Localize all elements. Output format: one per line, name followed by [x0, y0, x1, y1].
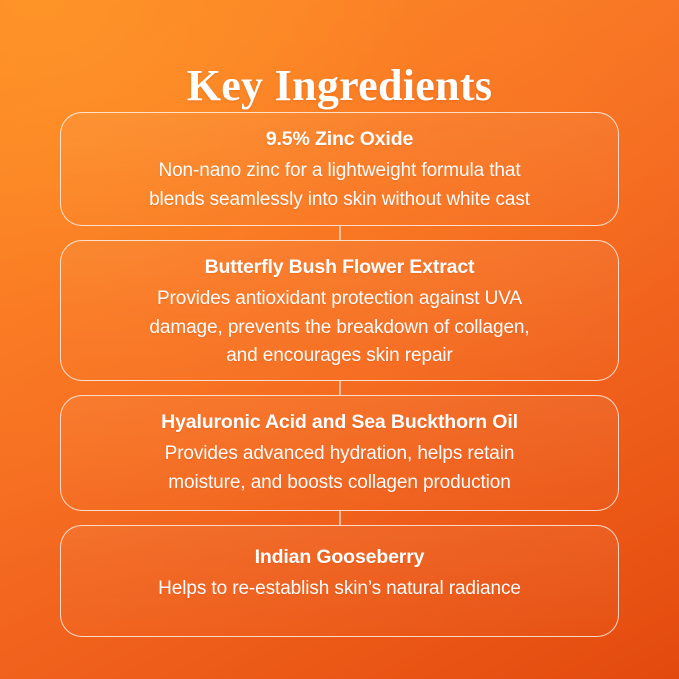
ingredient-card-list: 9.5% Zinc Oxide Non-nano zinc for a ligh… — [60, 112, 619, 637]
ingredient-card-heading: 9.5% Zinc Oxide — [87, 126, 592, 152]
ingredient-card-slot: Butterfly Bush Flower Extract Provides a… — [60, 240, 619, 395]
card-connector-line — [339, 511, 341, 525]
ingredient-card-description: Provides advanced hydration, helps retai… — [87, 440, 592, 497]
ingredient-card-description: Helps to re-establish skin’s natural rad… — [87, 575, 592, 604]
ingredient-card-heading: Indian Gooseberry — [87, 544, 592, 570]
ingredient-card-zinc-oxide: 9.5% Zinc Oxide Non-nano zinc for a ligh… — [60, 112, 619, 226]
ingredient-card-heading: Hyaluronic Acid and Sea Buckthorn Oil — [87, 409, 592, 435]
page-title: Key Ingredients — [187, 63, 493, 109]
ingredient-card-description: Provides antioxidant protection against … — [87, 285, 592, 371]
ingredient-card-hyaluronic-acid-sea-buckthorn-oil: Hyaluronic Acid and Sea Buckthorn Oil Pr… — [60, 395, 619, 511]
ingredient-card-description: Non-nano zinc for a lightweight formula … — [87, 157, 592, 214]
card-connector-line — [339, 381, 341, 395]
ingredient-card-indian-gooseberry: Indian Gooseberry Helps to re-establish … — [60, 525, 619, 637]
ingredient-card-heading: Butterfly Bush Flower Extract — [87, 254, 592, 280]
card-connector-line — [339, 226, 341, 240]
ingredient-card-butterfly-bush-flower-extract: Butterfly Bush Flower Extract Provides a… — [60, 240, 619, 381]
ingredient-card-slot: 9.5% Zinc Oxide Non-nano zinc for a ligh… — [60, 112, 619, 240]
ingredient-card-slot: Indian Gooseberry Helps to re-establish … — [60, 525, 619, 637]
ingredient-card-slot: Hyaluronic Acid and Sea Buckthorn Oil Pr… — [60, 395, 619, 525]
key-ingredients-poster: Key Ingredients 9.5% Zinc Oxide Non-nano… — [0, 0, 679, 679]
